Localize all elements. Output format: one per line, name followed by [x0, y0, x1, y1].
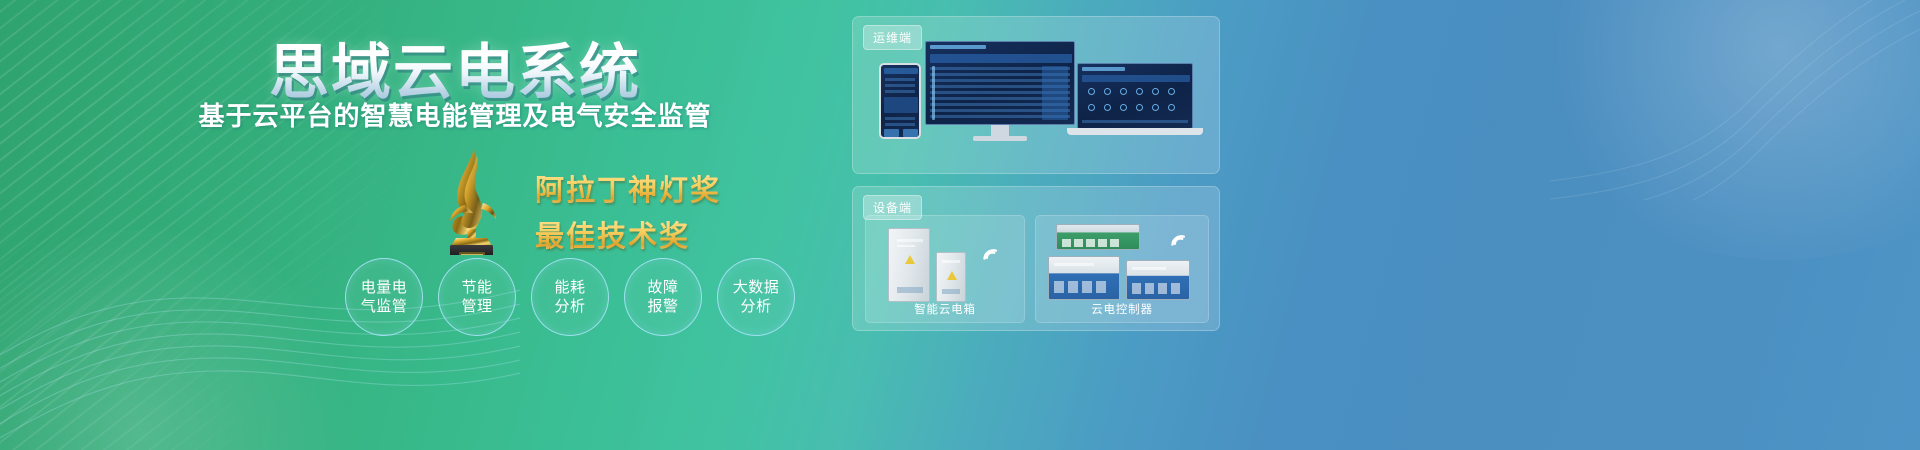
glow-top-right [1520, 0, 1920, 260]
controller-unit-top [1056, 224, 1140, 250]
feature-circle-1[interactable]: 电量电 气监管 [345, 258, 423, 336]
feature-5-line2: 分析 [733, 297, 780, 316]
smart-box-cabinet-small [936, 252, 966, 302]
feature-1-line2: 气监管 [361, 297, 408, 316]
page-subtitle: 基于云平台的智慧电能管理及电气安全监管 [0, 96, 850, 133]
trophy-icon [425, 145, 517, 255]
feature-2-line2: 管理 [461, 297, 492, 316]
feature-2-line1: 节能 [461, 278, 492, 297]
panel-tag-equipment: 设备端 [863, 195, 922, 220]
device-card-controller[interactable]: 云电控制器 [1035, 215, 1209, 323]
feature-circle-5[interactable]: 大数据 分析 [717, 258, 795, 336]
panel-equipment: 设备端 [852, 186, 1220, 331]
controller-unit-right [1126, 260, 1190, 300]
device-card-smart-box[interactable]: 智能云电箱 [865, 215, 1025, 323]
device-label-controller: 云电控制器 [1036, 301, 1208, 317]
device-label-smart-box: 智能云电箱 [866, 301, 1024, 317]
promo-banner: 思域云电系统 基于云平台的智慧电能管理及电气安全监管 [0, 0, 1920, 450]
award-name-1: 阿拉丁神灯奖 [535, 167, 721, 209]
wifi-signal-icon-controller [1164, 224, 1190, 246]
banner-left-content: 思域云电系统 基于云平台的智慧电能管理及电气安全监管 [0, 0, 850, 450]
feature-circle-list: 电量电 气监管 节能 管理 能耗 分析 故障 报警 [345, 258, 795, 336]
feature-4-line1: 故障 [647, 278, 678, 297]
laptop-screen [1077, 63, 1193, 129]
award-name-2: 最佳技术奖 [535, 213, 721, 255]
feature-1-line1: 电量电 [361, 278, 408, 297]
desktop-monitor-screen [925, 41, 1075, 125]
feature-circle-4[interactable]: 故障 报警 [624, 258, 702, 336]
panel-operations: 运维端 [852, 16, 1220, 174]
feature-3-line2: 分析 [554, 297, 585, 316]
feature-3-line1: 能耗 [554, 278, 585, 297]
wifi-signal-icon-box [976, 238, 1002, 260]
award-block: 阿拉丁神灯奖 最佳技术奖 [425, 145, 721, 255]
banner-right-panels: 运维端 [852, 16, 1232, 343]
controller-unit-left [1048, 256, 1120, 300]
mobile-phone-screen [879, 63, 921, 139]
smart-box-cabinet-large [888, 228, 930, 302]
wave-lines-decoration-right [1550, 0, 1920, 200]
laptop-keyboard-deck [1067, 128, 1203, 135]
feature-5-line1: 大数据 [733, 278, 780, 297]
panel-tag-operations: 运维端 [863, 25, 922, 50]
monitor-base [973, 136, 1027, 141]
feature-circle-3[interactable]: 能耗 分析 [531, 258, 609, 336]
feature-circle-2[interactable]: 节能 管理 [438, 258, 516, 336]
feature-4-line2: 报警 [647, 297, 678, 316]
award-labels: 阿拉丁神灯奖 最佳技术奖 [535, 145, 721, 255]
